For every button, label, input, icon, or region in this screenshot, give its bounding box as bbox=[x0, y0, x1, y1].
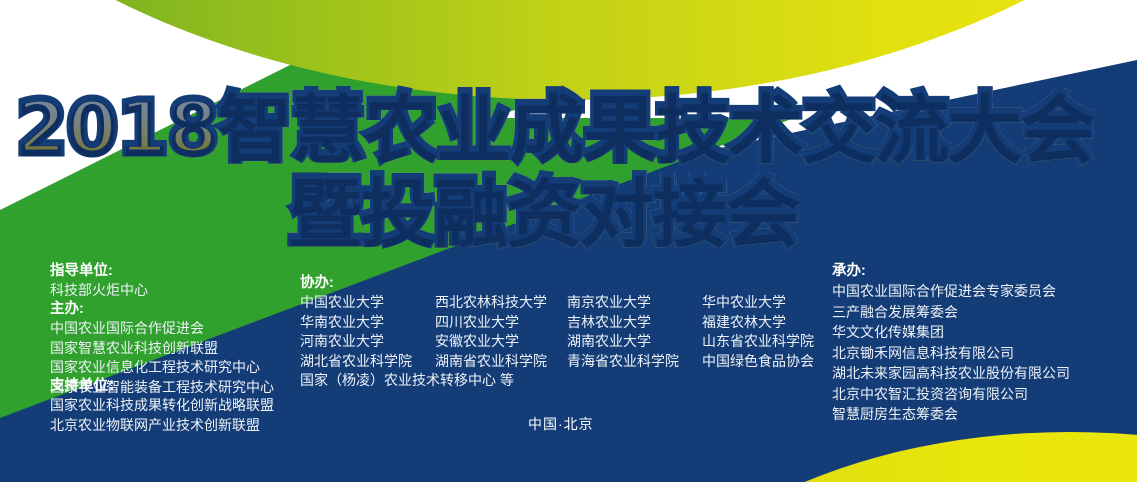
organizer-item: 智慧厨房生态筹委会 bbox=[832, 404, 1070, 425]
credits-block: 指导单位: 科技部火炬中心 主办: 中国农业国际合作促进会 国家智慧农业科技创新… bbox=[0, 262, 1137, 482]
organizer-item: 华文文化传媒集团 bbox=[832, 322, 1070, 343]
host-item: 国家智慧农业科技创新联盟 bbox=[50, 339, 274, 359]
title-block: 2018智慧农业成果技术交流大会 暨投融资对接会 bbox=[0, 0, 1137, 260]
coorganizer-item: 河南农业大学 bbox=[300, 332, 435, 352]
coorganizer-item: 湖南农业大学 bbox=[567, 332, 702, 352]
credits-column-coorganizer: 协办: 中国农业大学 西北农林科技大学 南京农业大学 华中农业大学 华南农业大学… bbox=[300, 274, 818, 391]
coorganizer-item: 中国绿色食品协会 bbox=[702, 352, 818, 372]
credits-column-organizer: 承办: 中国农业国际合作促进会专家委员会 三产融合发展筹委会 华文文化传媒集团 … bbox=[832, 262, 1070, 425]
coorganizer-item: 南京农业大学 bbox=[567, 293, 702, 313]
conference-poster: 2018智慧农业成果技术交流大会 暨投融资对接会 指导单位: 科技部火炬中心 主… bbox=[0, 0, 1137, 482]
coorganizer-tail: 国家（杨凌）农业技术转移中心 等 bbox=[300, 371, 818, 391]
coorganizer-grid: 中国农业大学 西北农林科技大学 南京农业大学 华中农业大学 华南农业大学 四川农… bbox=[300, 293, 818, 371]
support-header: 支持单位： bbox=[50, 377, 274, 396]
title-line-2: 暨投融资对接会 bbox=[288, 172, 799, 252]
coorganizer-item: 华南农业大学 bbox=[300, 313, 435, 333]
coorganizer-item: 吉林农业大学 bbox=[567, 313, 702, 333]
support-item: 国家农业科技成果转化创新战略联盟 bbox=[50, 396, 274, 416]
organizer-item: 中国农业国际合作促进会专家委员会 bbox=[832, 281, 1070, 302]
credits-column-support: 支持单位： 国家农业科技成果转化创新战略联盟 北京农业物联网产业技术创新联盟 bbox=[50, 377, 274, 435]
coorganizer-item: 山东省农业科学院 bbox=[702, 332, 818, 352]
venue-label: 中国·北京 bbox=[528, 414, 594, 434]
credits-column-guide: 指导单位: 科技部火炬中心 bbox=[50, 262, 148, 301]
host-header: 主办: bbox=[50, 300, 274, 319]
organizer-item: 湖北未来家园高科技农业股份有限公司 bbox=[832, 363, 1070, 384]
coorganizer-item: 四川农业大学 bbox=[435, 313, 567, 333]
coorganizer-item: 华中农业大学 bbox=[702, 293, 818, 313]
coorganizer-item: 青海省农业科学院 bbox=[567, 352, 702, 372]
support-item: 北京农业物联网产业技术创新联盟 bbox=[50, 416, 274, 436]
host-item: 中国农业国际合作促进会 bbox=[50, 319, 274, 339]
coorganizer-item: 西北农林科技大学 bbox=[435, 293, 567, 313]
guide-header: 指导单位: bbox=[50, 262, 148, 281]
coorganizer-item: 安徽农业大学 bbox=[435, 332, 567, 352]
coorganizer-item: 湖南省农业科学院 bbox=[435, 352, 567, 372]
organizer-item: 北京中农智汇投资咨询有限公司 bbox=[832, 384, 1070, 405]
guide-item: 科技部火炬中心 bbox=[50, 281, 148, 301]
title-line-1: 2018智慧农业成果技术交流大会 bbox=[16, 88, 1094, 168]
host-item: 国家农业信息化工程技术研究中心 bbox=[50, 358, 274, 378]
coorganizer-item: 湖北省农业科学院 bbox=[300, 352, 435, 372]
organizer-item: 三产融合发展筹委会 bbox=[832, 302, 1070, 323]
organizer-header: 承办: bbox=[832, 262, 1070, 281]
coorganizer-header: 协办: bbox=[300, 274, 818, 293]
coorganizer-item: 中国农业大学 bbox=[300, 293, 435, 313]
organizer-item: 北京锄禾网信息科技有限公司 bbox=[832, 343, 1070, 364]
coorganizer-item: 福建农林大学 bbox=[702, 313, 818, 333]
